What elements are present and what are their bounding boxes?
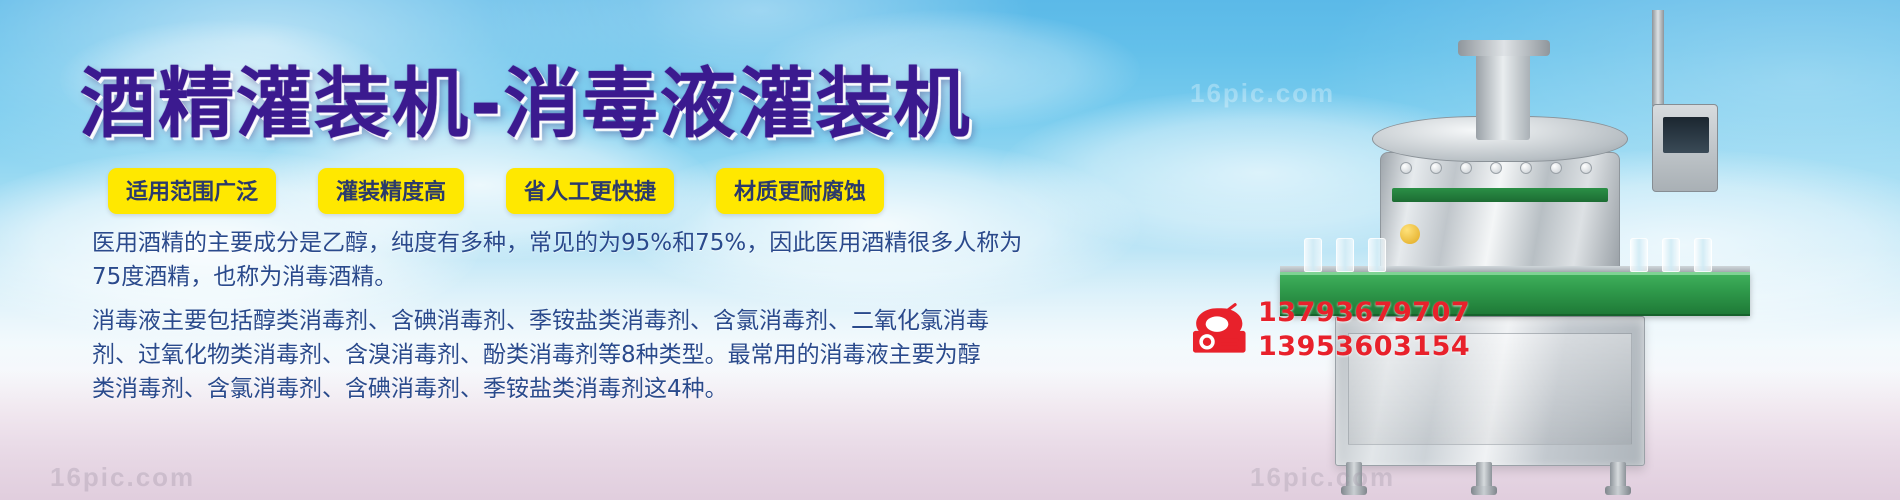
machine-dial [1580,162,1592,174]
machine-dial [1550,162,1562,174]
paragraph-2-line-3: 类消毒剂、含氯消毒剂、含碘消毒剂、季铵盐类消毒剂这4种。 [92,372,1112,406]
feature-tag-3: 省人工更快捷 [506,168,674,214]
bottle [1694,238,1712,272]
paragraph-1-line-2: 75度酒精，也称为消毒酒精。 [92,260,1112,294]
paragraph-2-line-1: 消毒液主要包括醇类消毒剂、含碘消毒剂、季铵盐类消毒剂、含氯消毒剂、二氧化氯消毒 [92,304,1112,338]
paragraph-2-line-2: 剂、过氧化物类消毒剂、含溴消毒剂、酚类消毒剂等8种类型。最常用的消毒液主要为醇 [92,338,1112,372]
feature-tag-1: 适用范围广泛 [108,168,276,214]
machine-dial [1400,162,1412,174]
contact-phone-block[interactable]: 13793679707 13953603154 [1188,296,1470,364]
description-text: 医用酒精的主要成分是乙醇，纯度有多种，常见的为95%和75%，因此医用酒精很多人… [92,226,1112,406]
paragraph-1-line-1: 医用酒精的主要成分是乙醇，纯度有多种，常见的为95%和75%，因此医用酒精很多人… [92,226,1112,260]
feature-tag-list: 适用范围广泛 灌装精度高 省人工更快捷 材质更耐腐蚀 [108,168,884,214]
machine-green-guard [1392,188,1608,202]
phone-number-list: 13793679707 13953603154 [1258,296,1470,364]
machine-top-cap [1458,40,1550,56]
product-image [1280,22,1750,492]
feature-tag-4: 材质更耐腐蚀 [716,168,884,214]
phone-number-1[interactable]: 13793679707 [1258,296,1470,330]
machine-dial [1460,162,1472,174]
bottle [1336,238,1354,272]
machine-knob [1400,224,1420,244]
feature-tag-2: 灌装精度高 [318,168,464,214]
machine-dial [1490,162,1502,174]
bottle [1662,238,1680,272]
phone-number-2[interactable]: 13953603154 [1258,330,1470,364]
promo-banner: 酒精灌装机-消毒液灌装机 适用范围广泛 灌装精度高 省人工更快捷 材质更耐腐蚀 … [0,0,1900,500]
machine-support-arm [1652,10,1664,106]
machine-dial-row [1392,162,1608,176]
machine-dial [1520,162,1532,174]
machine-foot [1605,486,1631,495]
bottle [1368,238,1386,272]
machine-foot [1471,486,1497,495]
machine-dial [1430,162,1442,174]
machine-foot [1341,486,1367,495]
bottle [1630,238,1648,272]
machine-center-column [1476,50,1530,140]
page-title: 酒精灌装机-消毒液灌装机 [80,42,972,152]
machine-control-panel [1652,104,1718,192]
bottle [1304,238,1322,272]
telephone-icon [1188,301,1246,359]
